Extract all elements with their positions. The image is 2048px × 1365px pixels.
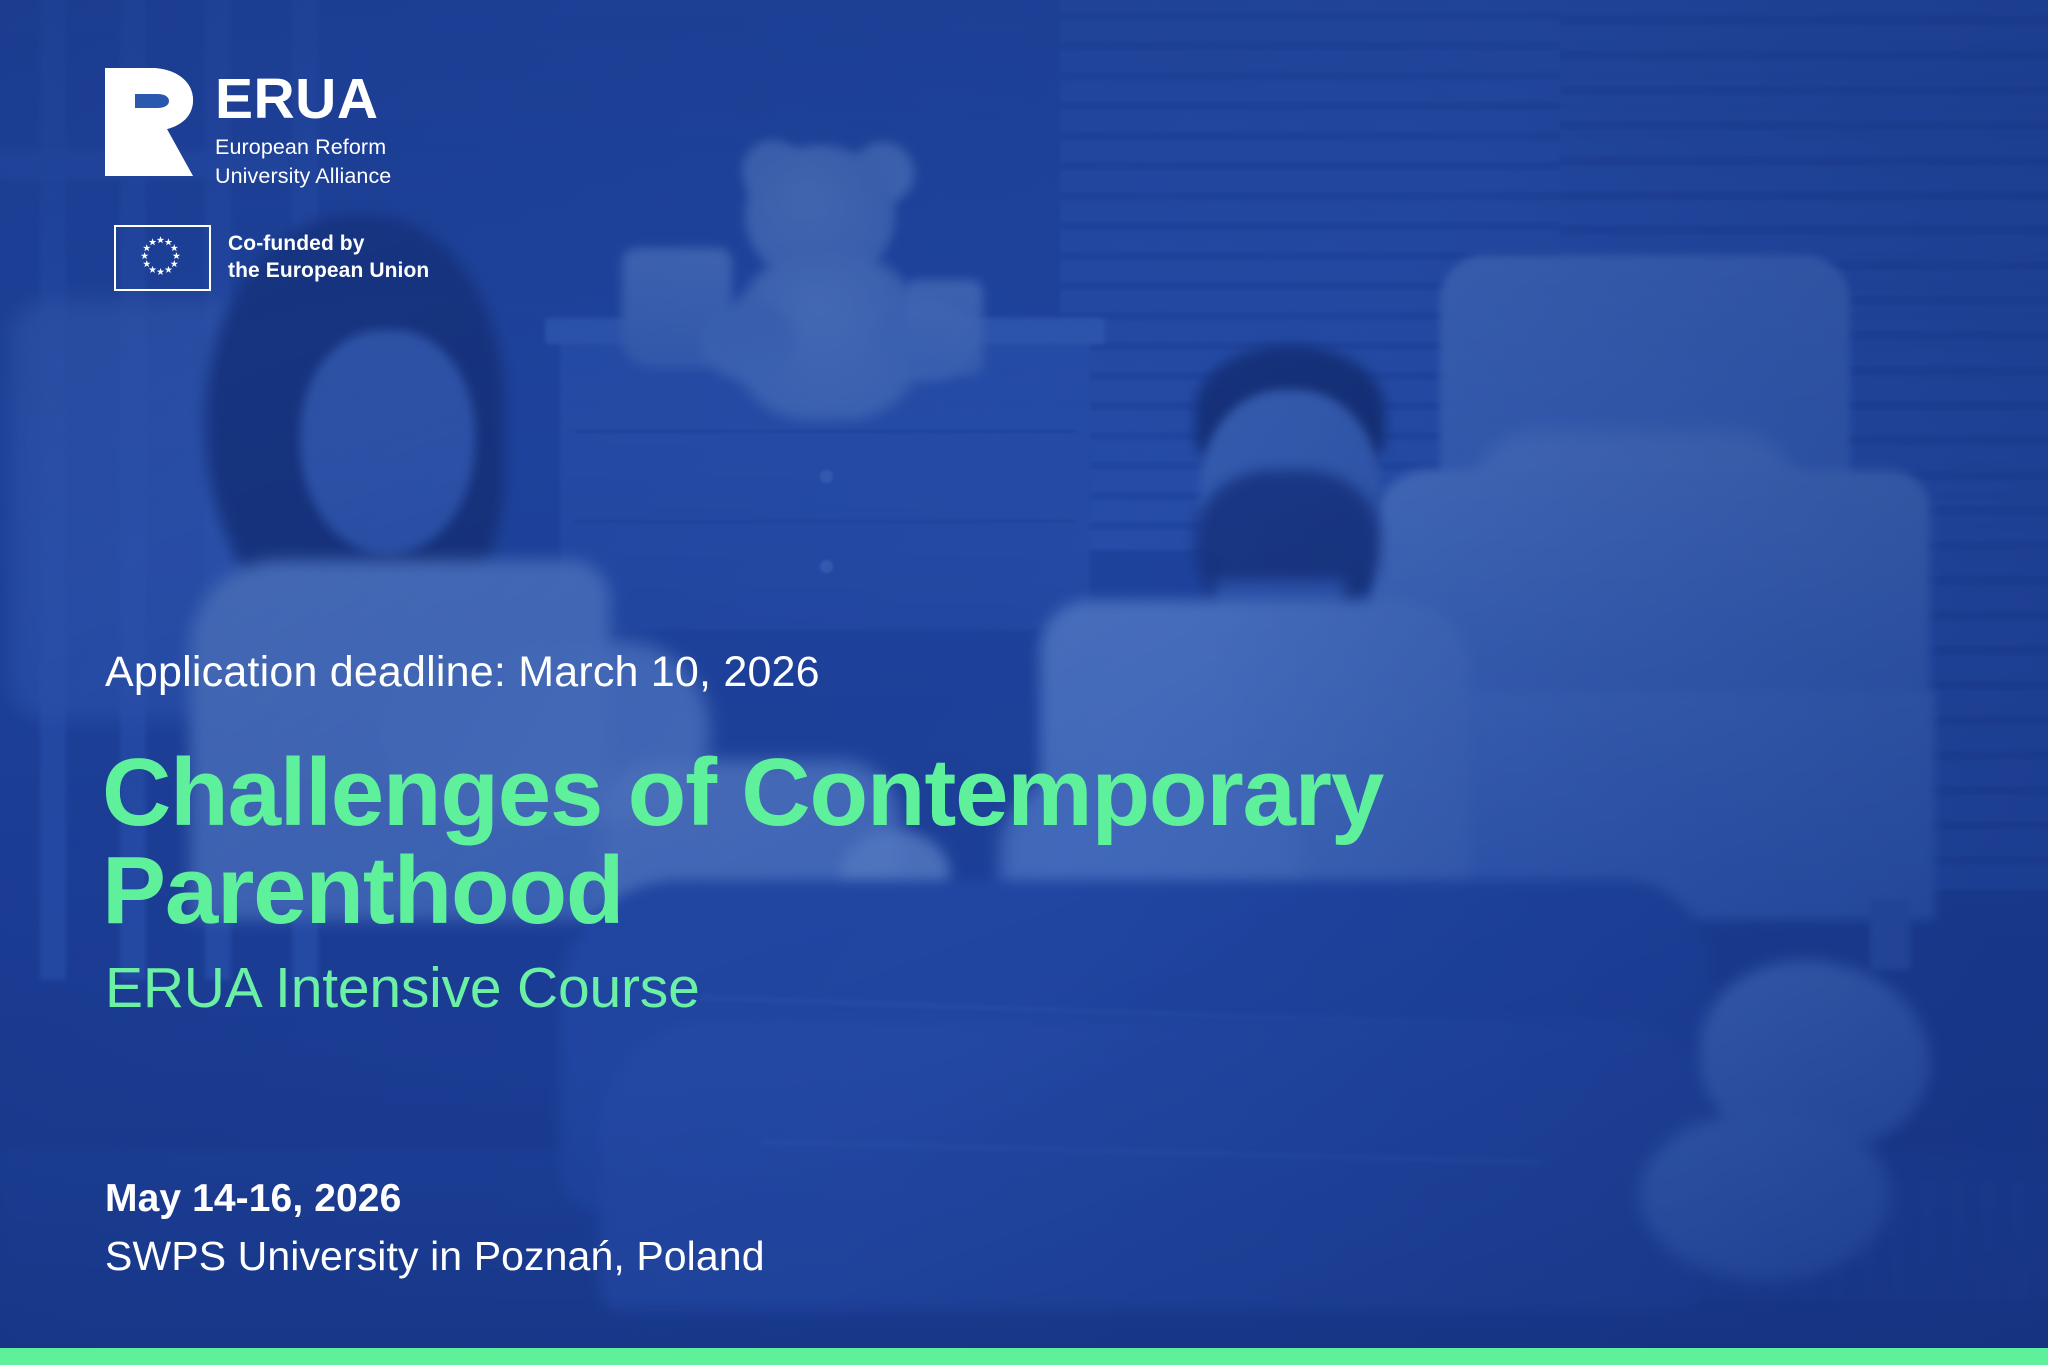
event-subtitle: ERUA Intensive Course: [105, 955, 700, 1021]
promotional-poster: ERUA European Reform University Alliance: [0, 0, 2048, 1365]
erua-tagline-line2: University Alliance: [215, 164, 391, 188]
accent-bar: [0, 1348, 2048, 1365]
eu-flag-icon: [114, 225, 211, 291]
event-details: May 14-16, 2026 SWPS University in Pozna…: [105, 1175, 765, 1283]
funding-line1: Co-funded by: [228, 232, 365, 255]
eu-funding-badge: Co-funded by the European Union: [114, 225, 429, 291]
erua-r-mark-icon: [105, 68, 193, 176]
application-deadline: Application deadline: March 10, 2026: [105, 648, 820, 697]
erua-tagline-line1: European Reform: [215, 135, 386, 159]
erua-logo-lockup: ERUA European Reform University Alliance: [105, 68, 391, 190]
event-title: Challenges of Contemporary Parenthood: [102, 744, 1383, 940]
event-venue: SWPS University in Poznań, Poland: [105, 1230, 765, 1283]
funding-line2: the European Union: [228, 259, 429, 282]
erua-name: ERUA: [215, 72, 391, 126]
event-dates: May 14-16, 2026: [105, 1175, 765, 1224]
